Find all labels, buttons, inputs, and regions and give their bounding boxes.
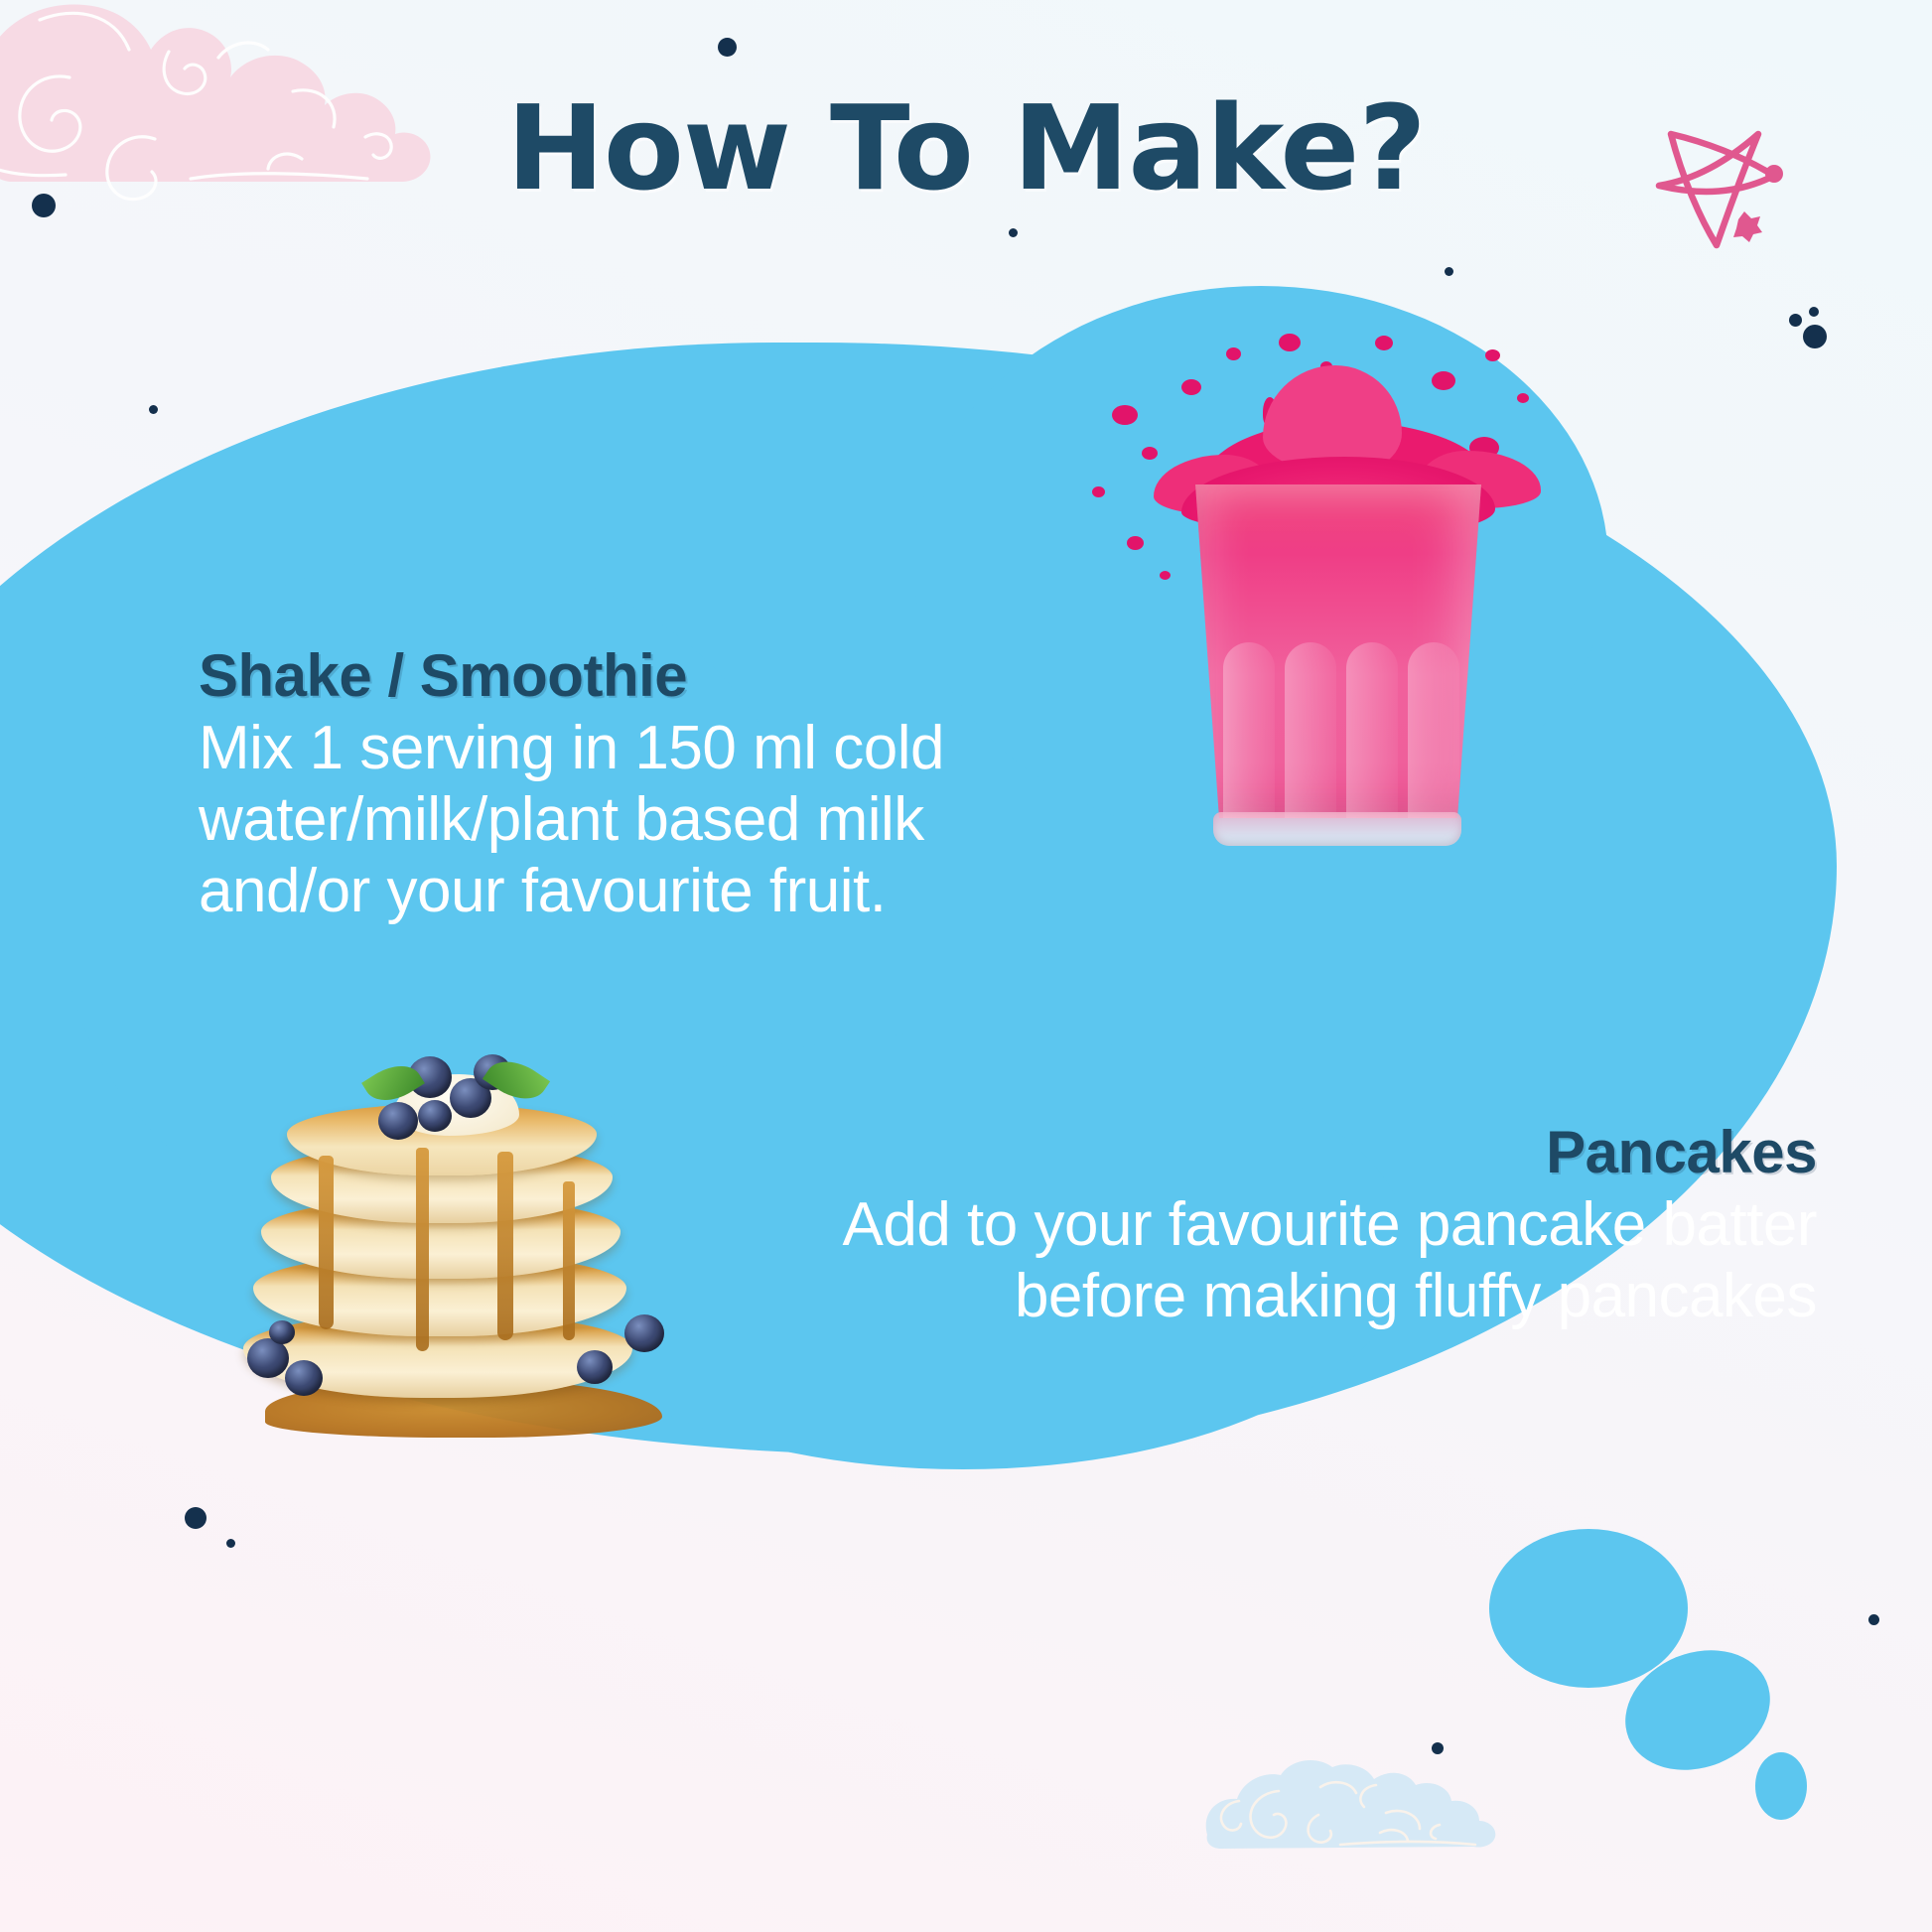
- speech-bubble-tail-large: [1489, 1529, 1688, 1688]
- decor-dot: [149, 405, 158, 414]
- decor-dot: [718, 38, 737, 57]
- page-title: How To Make?: [0, 87, 1932, 210]
- pancake-stack-blueberries-photo: [213, 1052, 690, 1440]
- decor-dot: [1868, 1614, 1879, 1625]
- poster-canvas: How To Make?: [0, 0, 1932, 1932]
- star-sparkle-icon: [1733, 211, 1762, 242]
- section-pancakes: Pancakes Add to your favourite pancake b…: [794, 1120, 1817, 1332]
- decor-dot: [1809, 307, 1819, 317]
- section-heading-shake-smoothie: Shake / Smoothie: [199, 643, 1072, 709]
- decor-dot: [1009, 228, 1018, 237]
- decor-dot: [1432, 1742, 1444, 1754]
- decor-dot: [185, 1507, 207, 1529]
- section-body-pancakes: Add to your favourite pancake batter bef…: [794, 1189, 1817, 1332]
- strawberry-smoothie-splash-photo: [1172, 427, 1509, 844]
- decor-dot: [226, 1539, 235, 1548]
- decor-dot: [1789, 314, 1802, 327]
- section-body-shake-smoothie: Mix 1 serving in 150 ml cold water/milk/…: [199, 713, 1072, 927]
- swirl-cloud-blue-icon: [1181, 1757, 1509, 1886]
- decor-dot: [1445, 267, 1453, 276]
- speech-bubble-tail-small: [1755, 1752, 1807, 1820]
- section-shake-smoothie: Shake / Smoothie Mix 1 serving in 150 ml…: [199, 643, 1072, 927]
- section-heading-pancakes: Pancakes: [794, 1120, 1817, 1185]
- decor-dot: [1803, 325, 1827, 348]
